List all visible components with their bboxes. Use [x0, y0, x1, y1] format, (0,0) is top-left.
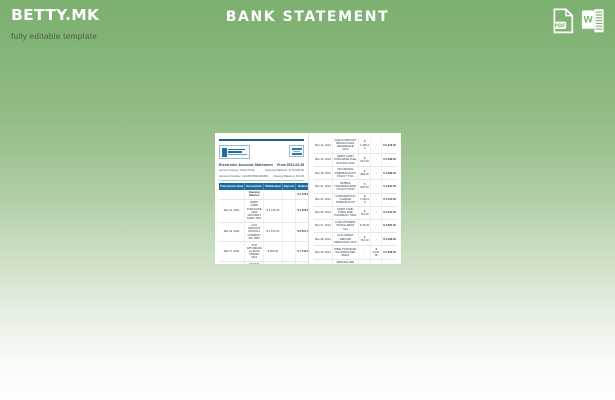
cell-description: INSURANCE PREMIUM AUTO POLICY 7741 [332, 167, 358, 180]
cell-deposit: - [282, 242, 296, 262]
cell-withdrawal: $ 38.00 [358, 219, 370, 232]
cell-date: Mar 23, 2021 [314, 193, 332, 206]
bank-stamp-icon [289, 145, 304, 157]
cell-balance: $ 6,318.00 [382, 138, 397, 154]
format-icon-group: PDF W [553, 8, 605, 39]
cell-balance: $ 2,108.00 [296, 190, 308, 200]
account-number-row: Account Number: 1234567890123456 Closing… [219, 174, 304, 178]
cell-balance: $ 7,740.00 [296, 242, 308, 262]
cell-withdrawal: $ 1,062.00 [358, 193, 370, 206]
cell-balance: $ 8,567.00 [296, 222, 308, 242]
table-row: Mar 28, 2021ACH CREDIT REFUND MERCHANT 2… [314, 233, 397, 246]
cell-description: DEBIT CARD PURCHASE PHARMACY 9912 [332, 206, 358, 219]
bank-mark-icon [222, 148, 227, 157]
cell-date: Mar 28, 2021 [314, 233, 332, 246]
cell-balance: $ 4,310.00 [382, 193, 397, 206]
table-row: Mar 23, 2021SUBSCRIPTION CHARGE STREAM P… [314, 193, 397, 206]
cell-balance: $ 4,810.00 [382, 180, 397, 193]
cell-deposit: - [282, 261, 296, 264]
cell-deposit: - [371, 193, 382, 206]
cell-date: Mar 30, 2021 [314, 259, 332, 264]
statement-title: Electronic Account Statement [219, 163, 273, 167]
column-header-description: Description [245, 183, 264, 190]
cell-balance: $ 7,470.00 [296, 261, 308, 264]
cell-date: Mar 21, 2021 [314, 180, 332, 193]
cell-description: ACH CREDIT REFUND MERCHANT 2210 [332, 233, 358, 246]
table-row: Mar 30, 2021SERVICE FEE MONTHLY MAINTENA… [314, 259, 397, 264]
cell-deposit: - [371, 138, 382, 154]
cell-withdrawal: $ 480.00 [264, 261, 282, 264]
account-holder: Account Name: JOHN DOE [219, 168, 255, 172]
cell-description: LOAN PAYMENT INSTALLMENT 014 [332, 219, 358, 232]
bank-logo [219, 145, 250, 158]
cell-deposit: $ 2,400.00 [371, 246, 382, 259]
cell-deposit: - [371, 153, 382, 166]
cell-balance: $ 5,398.00 [382, 153, 397, 166]
cell-balance: $ 4,998.00 [382, 167, 397, 180]
cell-date [219, 190, 245, 200]
cell-withdrawal: - [358, 246, 370, 259]
cell-deposit: - [371, 233, 382, 246]
cell-date: Mar 25, 2021 [314, 206, 332, 219]
cell-deposit: - [371, 180, 382, 193]
table-row: Mar 29, 2021WIRE TRANSFER INCOMING REF 8… [314, 246, 397, 259]
cell-deposit: - [371, 259, 382, 264]
cell-date: Mar 04, 2021 [219, 222, 245, 242]
statement-page-2: Mar 14, 2021CHECK DEPOSIT BRANCH 0021 RE… [308, 133, 401, 264]
cell-date: Mar 16, 2021 [314, 153, 332, 166]
cell-withdrawal: $ 836.00 [358, 180, 370, 193]
cell-description: WIRE TRANSFER INCOMING REF 88210 [332, 246, 358, 259]
cell-withdrawal: $ 912.00 [358, 153, 370, 166]
table-row: Mar 21, 2021MOBILE TRANSFER SENT TO ACCT… [314, 180, 397, 193]
cell-date: Mar 29, 2021 [314, 246, 332, 259]
table-row: Mar 16, 2021DEBIT CARD PURCHASE FUEL STA… [314, 153, 397, 166]
cell-date: Mar 14, 2021 [314, 138, 332, 154]
opening-balance-label: Opening Balance: $ 70,108.00 [265, 168, 304, 172]
page-title: BANK STATEMENT [0, 9, 615, 25]
table-row: Mar 07, 2021ONLINE TRANSFER TO SAVINGS 8… [219, 261, 308, 264]
cell-date: Mar 07, 2021 [219, 242, 245, 262]
table-row: Opening Balance$ 2,108.00 [219, 190, 308, 200]
column-header-deposit: Deposit [282, 183, 296, 190]
brand-tagline: fully editable template [11, 31, 231, 41]
cell-withdrawal: $ 650.00 [264, 242, 282, 262]
transactions-table-page1: Transaction Date Description Withdrawal … [219, 183, 308, 264]
transactions-body-page2: Mar 14, 2021CHECK DEPOSIT BRANCH 0021 RE… [314, 138, 397, 265]
word-format-icon[interactable]: W [581, 8, 605, 39]
page-accent-rule [219, 139, 304, 141]
table-row: Mar 27, 2021LOAN PAYMENT INSTALLMENT 014… [314, 219, 397, 232]
cell-balance: $ 3,910.00 [382, 206, 397, 219]
account-number: Account Number: 1234567890123456 [219, 174, 268, 178]
table-row: Mar 07, 2021ATM WITHDRAWAL MAIN STREET 3… [219, 242, 308, 262]
table-header-row: Transaction Date Description Withdrawal … [219, 183, 308, 190]
cell-deposit [282, 190, 296, 200]
cell-withdrawal: $ 1,570.00 [264, 222, 282, 242]
cell-deposit: - [371, 219, 382, 232]
cell-description: SUBSCRIPTION CHARGE STREAM PLUS [332, 193, 358, 206]
column-header-balance: Balance [296, 183, 308, 190]
bank-header [219, 145, 304, 158]
cell-deposit: - [282, 199, 296, 222]
cell-date: Mar 18, 2021 [314, 167, 332, 180]
table-row: Mar 02, 2021DEBIT CARD PURCHASE 1234 GRO… [219, 199, 308, 222]
cell-description: ATM WITHDRAWAL MAIN STREET 3321 [245, 242, 264, 262]
cell-description: DEBIT CARD PURCHASE 1234 GROCERY MART 45… [245, 199, 264, 222]
cell-description: Opening Balance [245, 190, 264, 200]
statement-meta-row: Electronic Account Statement From 2021-0… [219, 163, 304, 167]
table-row: Mar 14, 2021CHECK DEPOSIT BRANCH 0021 RE… [314, 138, 397, 154]
cell-withdrawal [264, 190, 282, 200]
statement-period: From 2021-02-28 [277, 163, 304, 167]
cell-date: Mar 02, 2021 [219, 199, 245, 222]
cell-date: Mar 07, 2021 [219, 261, 245, 264]
cell-balance: $ 9,358.00 [296, 199, 308, 222]
cell-description: SERVICE FEE MONTHLY MAINTENANCE [332, 259, 358, 264]
cell-description: DEBIT CARD PURCHASE FUEL STATION 2233 [332, 153, 358, 166]
cell-balance: $ 5,698.00 [382, 246, 397, 259]
cell-deposit: - [371, 206, 382, 219]
table-row: Mar 04, 2021ACH DEPOSIT PAYROLL COMPANY … [219, 222, 308, 242]
document-preview[interactable]: Electronic Account Statement From 2021-0… [215, 133, 401, 264]
cell-description: MOBILE TRANSFER SENT TO ACCT 5510 [332, 180, 358, 193]
cell-withdrawal: $ 716.00 [358, 206, 370, 219]
cell-date: Mar 27, 2021 [314, 219, 332, 232]
cell-description: ONLINE TRANSFER TO SAVINGS 8871 [245, 261, 264, 264]
bank-name-lines [228, 149, 247, 156]
pdf-format-icon[interactable]: PDF [553, 8, 574, 39]
transactions-body-page1: Opening Balance$ 2,108.00Mar 02, 2021DEB… [219, 190, 308, 264]
cell-description: CHECK DEPOSIT BRANCH 0021 REFERENCE 3310 [332, 138, 358, 154]
table-row: Mar 25, 2021DEBIT CARD PURCHASE PHARMACY… [314, 206, 397, 219]
meta-divider [219, 180, 304, 181]
svg-text:W: W [583, 16, 593, 26]
cell-balance: $ 5,640.00 [382, 259, 397, 264]
transactions-table-page2: Mar 14, 2021CHECK DEPOSIT BRANCH 0021 RE… [314, 138, 397, 265]
cell-balance: $ 3,852.00 [382, 219, 397, 232]
cell-withdrawal: $ 710.00 [358, 233, 370, 246]
cell-description: ACH DEPOSIT PAYROLL COMPANY INC 0987 [245, 222, 264, 242]
account-name-row: Account Name: JOHN DOE Opening Balance: … [219, 168, 304, 172]
closing-balance-label: Closing Balance: $ 0.00 [273, 174, 304, 178]
statement-page-1: Electronic Account Statement From 2021-0… [215, 133, 308, 264]
column-header-withdrawal: Withdrawal [264, 183, 282, 190]
cell-withdrawal: $ 2,145.00 [264, 199, 282, 222]
svg-text:PDF: PDF [554, 23, 565, 29]
cell-balance: $ 3,298.00 [382, 233, 397, 246]
cell-withdrawal: $ 58.00 [358, 259, 370, 264]
table-row: Mar 18, 2021INSURANCE PREMIUM AUTO POLIC… [314, 167, 397, 180]
cell-deposit: - [282, 222, 296, 242]
cell-withdrawal: $ 1,080.00 [358, 138, 370, 154]
column-header-date: Transaction Date [219, 183, 245, 190]
cell-deposit: - [371, 167, 382, 180]
cell-withdrawal: $ 882.00 [358, 167, 370, 180]
